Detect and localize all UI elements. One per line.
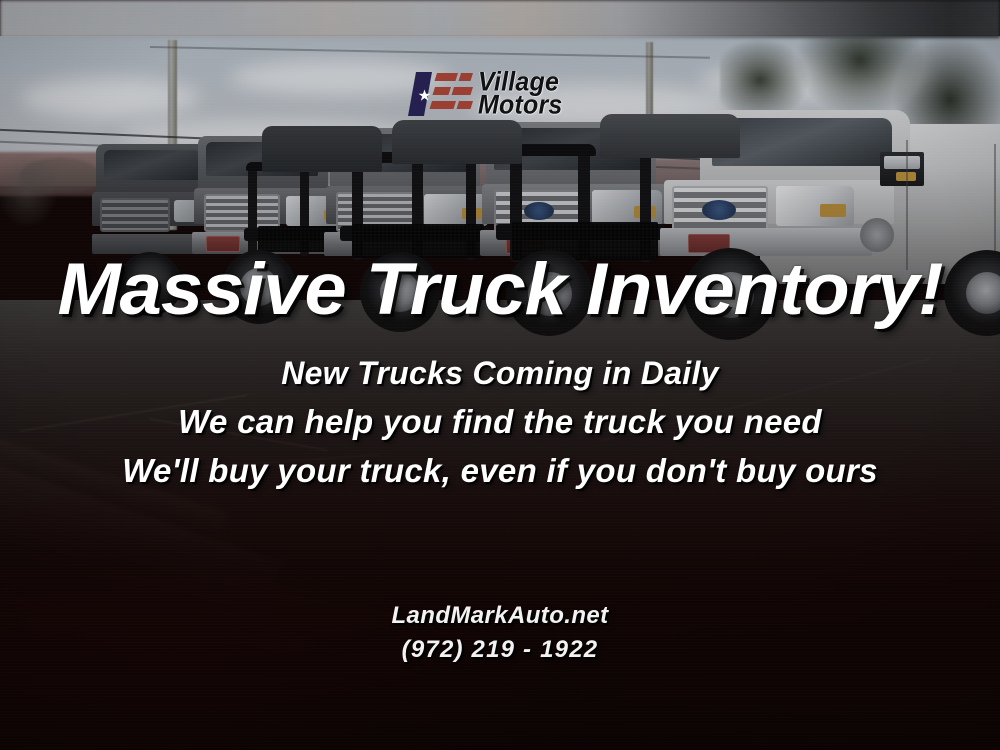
logo-wordmark: Village Motors: [478, 71, 563, 118]
subheading-1: New Trucks Coming in Daily: [0, 355, 1000, 392]
promotional-banner: Village Motors Massive Truck Inventory! …: [0, 0, 1000, 750]
website-link[interactable]: LandMarkAuto.net: [0, 602, 1000, 630]
phone-number[interactable]: (972) 219 - 1922: [0, 636, 1000, 664]
village-motors-logo[interactable]: Village Motors: [406, 66, 596, 122]
subheading-3: We'll buy your truck, even if you don't …: [0, 452, 1000, 490]
texas-flag-stripes-icon: [406, 68, 474, 120]
subheading-2: We can help you find the truck you need: [0, 403, 1000, 441]
headline: Massive Truck Inventory!: [0, 253, 1000, 326]
logo-line-2: Motors: [478, 93, 563, 118]
